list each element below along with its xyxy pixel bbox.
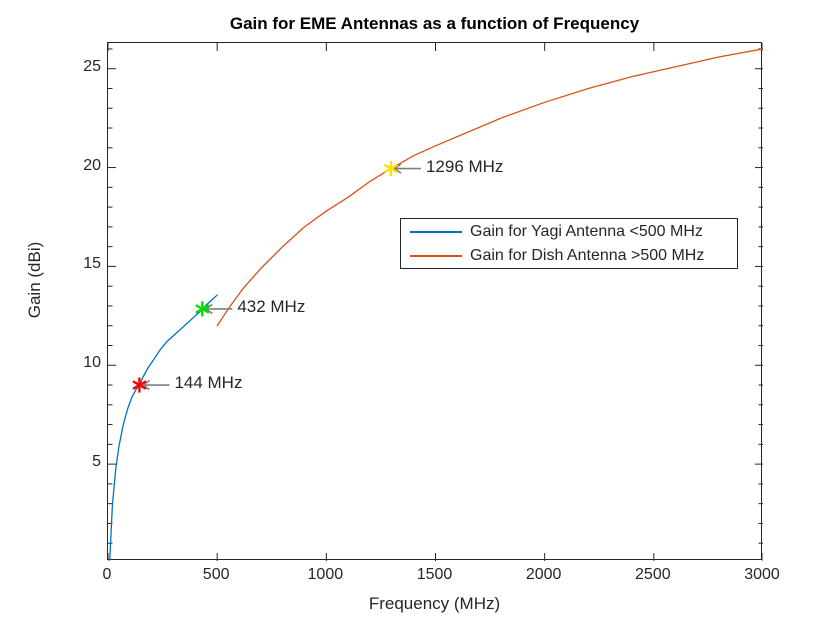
annotation-label-1296mhz: 1296 MHz — [426, 157, 503, 177]
y-axis-tick-labels: 510152025 — [57, 42, 101, 560]
x-tick-label-2000: 2000 — [526, 566, 562, 584]
legend-item-dish[interactable]: Gain for Dish Antenna >500 MHz — [401, 243, 737, 268]
chart-figure: Gain for EME Antennas as a function of F… — [0, 0, 840, 630]
legend-item-yagi[interactable]: Gain for Yagi Antenna <500 MHz — [401, 219, 737, 244]
series-line-0 — [110, 295, 217, 560]
y-tick-label-10: 10 — [83, 354, 101, 372]
y-axis-label: Gain (dBi) — [25, 200, 45, 360]
x-tick-label-1000: 1000 — [308, 566, 344, 584]
chart-title: Gain for EME Antennas as a function of F… — [107, 14, 762, 34]
annotation-label-144mhz: 144 MHz — [174, 373, 242, 393]
legend-label-yagi: Gain for Yagi Antenna <500 MHz — [470, 223, 703, 241]
x-axis-tick-labels: 050010001500200025003000 — [107, 566, 762, 590]
plot-canvas — [108, 43, 763, 561]
x-tick-label-500: 500 — [203, 566, 230, 584]
y-tick-label-25: 25 — [83, 58, 101, 76]
y-tick-label-20: 20 — [83, 157, 101, 175]
x-tick-label-2500: 2500 — [635, 566, 671, 584]
x-tick-label-0: 0 — [103, 566, 112, 584]
x-tick-label-3000: 3000 — [744, 566, 780, 584]
legend-color-swatch-dish — [410, 255, 462, 257]
y-tick-label-5: 5 — [92, 453, 101, 471]
annotation-label-432mhz: 432 MHz — [237, 297, 305, 317]
data-series-group — [110, 49, 763, 560]
y-tick-label-15: 15 — [83, 255, 101, 273]
series-line-1 — [217, 49, 763, 326]
legend-color-swatch-yagi — [410, 231, 462, 233]
axis-ticks — [108, 43, 763, 561]
legend-label-dish: Gain for Dish Antenna >500 MHz — [470, 247, 704, 265]
data-point-markers — [133, 161, 398, 392]
plot-area — [107, 42, 762, 560]
x-axis-label: Frequency (MHz) — [107, 594, 762, 614]
legend[interactable]: Gain for Yagi Antenna <500 MHz Gain for … — [400, 218, 738, 269]
x-tick-label-1500: 1500 — [417, 566, 453, 584]
annotation-arrows — [143, 164, 421, 389]
